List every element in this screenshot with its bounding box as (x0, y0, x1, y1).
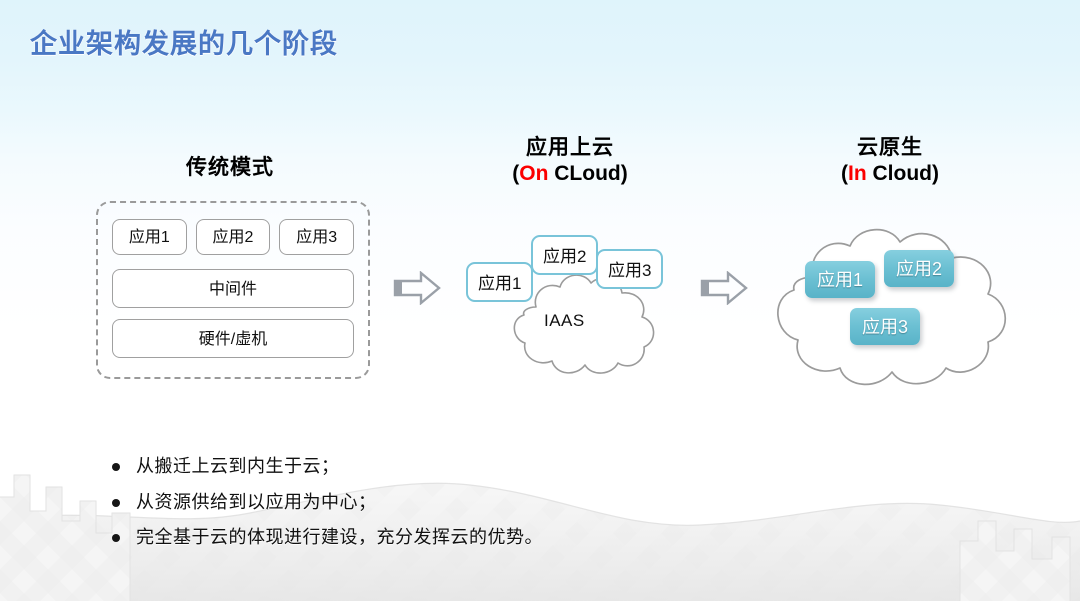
bullet-dot-icon (112, 499, 120, 507)
heading-highlight-in: In (848, 162, 867, 185)
cloudnative-app-chip-3: 应用3 (850, 308, 920, 345)
panel-heading-oncloud-en: (On CLoud) (470, 161, 670, 187)
bullet-dot-icon (112, 534, 120, 542)
bullet-text-2: 从资源供给到以应用为中心； (136, 491, 377, 514)
oncloud-app-chip-3: 应用3 (596, 249, 663, 289)
bullet-text-1: 从搬迁上云到内生于云； (136, 455, 340, 478)
traditional-app-box-3: 应用3 (279, 219, 354, 255)
traditional-app-box-1: 应用1 (112, 219, 187, 255)
panel-heading-traditional: 传统模式 (130, 155, 330, 181)
traditional-stack-container: 应用1 应用2 应用3 中间件 硬件/虚机 (96, 201, 370, 379)
panel-heading-cloudnative: 云原生 (In Cloud) (790, 135, 990, 186)
arrow-traditional-to-oncloud (393, 271, 441, 305)
panel-heading-oncloud: 应用上云 (On CLoud) (470, 135, 670, 186)
bullet-list: 从搬迁上云到内生于云； 从资源供给到以应用为中心； 完全基于云的体现进行建设，充… (112, 455, 752, 562)
bullet-text-3: 完全基于云的体现进行建设，充分发挥云的优势。 (136, 526, 543, 549)
paren-open-cloudnative: ( (841, 162, 848, 185)
heading-rest-oncloud: CLoud) (548, 162, 627, 185)
cloudnative-cloud-shape (762, 222, 1014, 392)
cloudnative-app-chip-2: 应用2 (884, 250, 954, 287)
page-title: 企业架构发展的几个阶段 (30, 22, 338, 61)
panel-heading-cloudnative-en: (In Cloud) (790, 161, 990, 187)
traditional-middleware-box: 中间件 (112, 269, 354, 308)
cloudnative-app-chip-1: 应用1 (805, 261, 875, 298)
oncloud-app-chip-1: 应用1 (466, 262, 533, 302)
bullet-dot-icon (112, 463, 120, 471)
traditional-app-box-2: 应用2 (196, 219, 271, 255)
panel-heading-cloudnative-cn: 云原生 (790, 135, 990, 161)
oncloud-app-chip-2: 应用2 (531, 235, 598, 275)
cloudnative-cloud-group (762, 222, 1014, 392)
list-item: 完全基于云的体现进行建设，充分发挥云的优势。 (112, 526, 752, 549)
heading-rest-cloudnative: Cloud) (867, 162, 939, 185)
iaas-cloud-label: IAAS (544, 311, 585, 331)
traditional-hardware-box: 硬件/虚机 (112, 319, 354, 358)
panel-heading-oncloud-cn: 应用上云 (470, 135, 670, 161)
slide-canvas: 企业架构发展的几个阶段 传统模式 应用1 应用2 应用3 中间件 硬件/虚机 应… (0, 0, 1080, 601)
panel-heading-traditional-cn: 传统模式 (130, 155, 330, 181)
arrow-oncloud-to-cloudnative (700, 271, 748, 305)
list-item: 从资源供给到以应用为中心； (112, 491, 752, 514)
heading-highlight-on: On (519, 162, 548, 185)
traditional-apps-row: 应用1 应用2 应用3 (112, 219, 354, 255)
list-item: 从搬迁上云到内生于云； (112, 455, 752, 478)
